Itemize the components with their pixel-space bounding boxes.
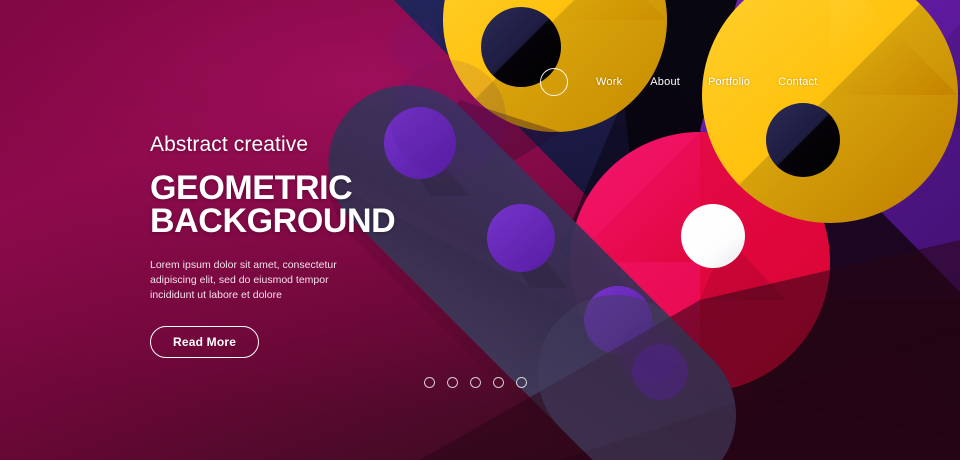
hero-body-line-3: incididunt ut labore et dolore <box>150 288 370 303</box>
hero-copy-block: Abstract creative GEOMETRIC BACKGROUND L… <box>150 133 450 358</box>
hero-body-line-2: adipiscing elit, sed do eiusmod tempor <box>150 273 370 288</box>
hero-banner: Work About Portfolio Contact Abstract cr… <box>0 0 960 460</box>
carousel-dot-1[interactable] <box>424 377 435 388</box>
circle-outline-logo-icon[interactable] <box>540 68 568 96</box>
nav-link-work[interactable]: Work <box>596 76 622 88</box>
hero-body-text: Lorem ipsum dolor sit amet, consectetur … <box>150 258 370 304</box>
nav-link-contact[interactable]: Contact <box>778 76 817 88</box>
decor-circle-white <box>681 204 745 268</box>
carousel-dot-4[interactable] <box>493 377 504 388</box>
carousel-pagination <box>424 377 527 388</box>
hero-headline-line-1: GEOMETRIC <box>150 172 450 205</box>
read-more-button[interactable]: Read More <box>150 326 259 358</box>
hero-headline: GEOMETRIC BACKGROUND <box>150 172 450 238</box>
hero-eyebrow: Abstract creative <box>150 133 450 156</box>
carousel-dot-5[interactable] <box>516 377 527 388</box>
hero-headline-line-2: BACKGROUND <box>150 205 450 238</box>
decor-circle-purple-2 <box>487 204 555 272</box>
carousel-dot-3[interactable] <box>470 377 481 388</box>
top-navigation: Work About Portfolio Contact <box>540 62 840 102</box>
carousel-dot-2[interactable] <box>447 377 458 388</box>
nav-link-portfolio[interactable]: Portfolio <box>708 76 750 88</box>
nav-link-about[interactable]: About <box>650 76 680 88</box>
hero-body-line-1: Lorem ipsum dolor sit amet, consectetur <box>150 258 370 273</box>
